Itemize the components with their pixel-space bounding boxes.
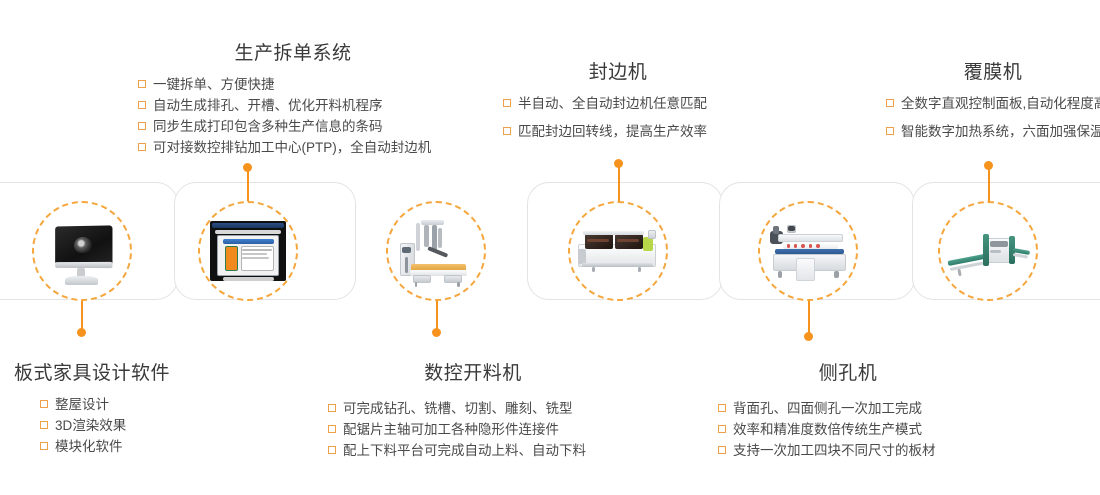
section-cnc-cutting-machine: 数控开料机 可完成钻孔、铣槽、切割、雕刻、铣型 配锯片主轴可加工各种隐形件连接件… [328,358,618,460]
section-bullet-list: 全数字直观控制面板,自动化程度高 智能数字加热系统，六面加强保温 [886,94,1100,141]
connector-splitting-system [247,167,249,203]
list-item: 模块化软件 [40,437,234,456]
node-laminating-machine[interactable] [938,201,1038,301]
section-title: 侧孔机 [718,358,978,385]
node-side-hole-machine[interactable] [758,201,858,301]
connector-dot-side-hole-machine [804,332,813,341]
section-design-software: 板式家具设计软件 整屋设计 3D渲染效果 模块化软件 [14,358,234,456]
bullet-text: 效率和精准度数倍传统生产模式 [733,420,922,439]
cnc-router-icon [395,210,478,293]
list-item: 同步生成打印包含多种生产信息的条码 [138,117,448,136]
software-window-icon [207,210,290,293]
bullet-square-icon [40,421,48,429]
section-title: 生产拆单系统 [138,38,448,65]
connector-edge-banding-machine [618,162,620,204]
edge-bander-icon [577,210,660,293]
laminator-icon [947,210,1030,293]
list-item: 可对接数控排钻加工中心(PTP)，全自动封边机 [138,138,448,157]
bullet-square-icon [718,404,726,412]
node-edge-banding-machine[interactable] [568,201,668,301]
bullet-square-icon [138,122,146,130]
bullet-square-icon [718,425,726,433]
bullet-text: 匹配封边回转线，提高生产效率 [518,122,707,141]
bullet-text: 配锯片主轴可加工各种隐形件连接件 [343,420,559,439]
connector-dot-edge-banding-machine [614,159,623,168]
connector-dot-cnc-cutting-machine [432,328,441,337]
bullet-text: 半自动、全自动封边机任意匹配 [518,94,707,113]
list-item: 智能数字加热系统，六面加强保温 [886,122,1100,141]
bullet-text: 配上下料平台可完成自动上料、自动下料 [343,441,586,460]
bullet-square-icon [138,101,146,109]
bullet-text: 支持一次加工四块不同尺寸的板材 [733,441,936,460]
section-edge-banding-machine: 封边机 半自动、全自动封边机任意匹配 匹配封边回转线，提高生产效率 [503,57,733,141]
list-item: 支持一次加工四块不同尺寸的板材 [718,441,978,460]
section-bullet-list: 可完成钻孔、铣槽、切割、雕刻、铣型 配锯片主轴可加工各种隐形件连接件 配上下料平… [328,399,618,460]
bullet-text: 同步生成打印包含多种生产信息的条码 [153,117,383,136]
bullet-square-icon [40,442,48,450]
connector-design-software [81,296,83,332]
bullet-square-icon [138,143,146,151]
bullet-square-icon [328,425,336,433]
section-laminating-machine: 覆膜机 全数字直观控制面板,自动化程度高 智能数字加热系统，六面加强保温 [886,57,1100,141]
bullet-text: 可完成钻孔、铣槽、切割、雕刻、铣型 [343,399,573,418]
bullet-square-icon [718,446,726,454]
bullet-square-icon [328,446,336,454]
bullet-square-icon [886,127,894,135]
list-item: 3D渲染效果 [40,416,234,435]
bullet-text: 智能数字加热系统，六面加强保温 [901,122,1100,141]
list-item: 一键拆单、方便快捷 [138,75,448,94]
section-splitting-system: 生产拆单系统 一键拆单、方便快捷 自动生成排孔、开槽、优化开料机程序 同步生成打… [138,38,448,158]
connector-laminating-machine [988,164,990,204]
node-cnc-cutting-machine[interactable] [386,201,486,301]
list-item: 可完成钻孔、铣槽、切割、雕刻、铣型 [328,399,618,418]
side-drill-icon [767,210,850,293]
bullet-text: 可对接数控排钻加工中心(PTP)，全自动封边机 [153,138,431,157]
bullet-text: 全数字直观控制面板,自动化程度高 [901,94,1100,113]
bullet-text: 一键拆单、方便快捷 [153,75,275,94]
node-splitting-system[interactable] [198,201,298,301]
list-item: 整屋设计 [40,395,234,414]
bullet-text: 整屋设计 [55,395,109,414]
list-item: 背面孔、四面侧孔一次加工完成 [718,399,978,418]
list-item: 效率和精准度数倍传统生产模式 [718,420,978,439]
section-title: 覆膜机 [886,57,1100,84]
workflow-diagram: 生产拆单系统 一键拆单、方便快捷 自动生成排孔、开槽、优化开料机程序 同步生成打… [0,0,1100,495]
node-design-software[interactable] [32,201,132,301]
section-bullet-list: 整屋设计 3D渲染效果 模块化软件 [14,395,234,456]
section-title: 板式家具设计软件 [14,358,234,385]
connector-dot-splitting-system [243,163,252,172]
bullet-square-icon [138,80,146,88]
bullet-text: 背面孔、四面侧孔一次加工完成 [733,399,922,418]
bullet-square-icon [503,127,511,135]
bullet-square-icon [40,400,48,408]
bullet-text: 3D渲染效果 [55,416,126,435]
list-item: 配锯片主轴可加工各种隐形件连接件 [328,420,618,439]
list-item: 配上下料平台可完成自动上料、自动下料 [328,441,618,460]
bullet-square-icon [503,99,511,107]
imac-computer-icon [41,210,124,293]
bullet-square-icon [328,404,336,412]
connector-dot-design-software [77,328,86,337]
bullet-square-icon [886,99,894,107]
section-side-hole-machine: 侧孔机 背面孔、四面侧孔一次加工完成 效率和精准度数倍传统生产模式 支持一次加工… [718,358,978,460]
connector-dot-laminating-machine [984,161,993,170]
section-bullet-list: 半自动、全自动封边机任意匹配 匹配封边回转线，提高生产效率 [503,94,733,141]
section-bullet-list: 背面孔、四面侧孔一次加工完成 效率和精准度数倍传统生产模式 支持一次加工四块不同… [718,399,978,460]
section-title: 数控开料机 [328,358,618,385]
list-item: 半自动、全自动封边机任意匹配 [503,94,733,113]
list-item: 自动生成排孔、开槽、优化开料机程序 [138,96,448,115]
section-bullet-list: 一键拆单、方便快捷 自动生成排孔、开槽、优化开料机程序 同步生成打印包含多种生产… [138,75,448,158]
list-item: 全数字直观控制面板,自动化程度高 [886,94,1100,113]
section-title: 封边机 [503,57,733,84]
bullet-text: 模块化软件 [55,437,123,456]
list-item: 匹配封边回转线，提高生产效率 [503,122,733,141]
bullet-text: 自动生成排孔、开槽、优化开料机程序 [153,96,383,115]
